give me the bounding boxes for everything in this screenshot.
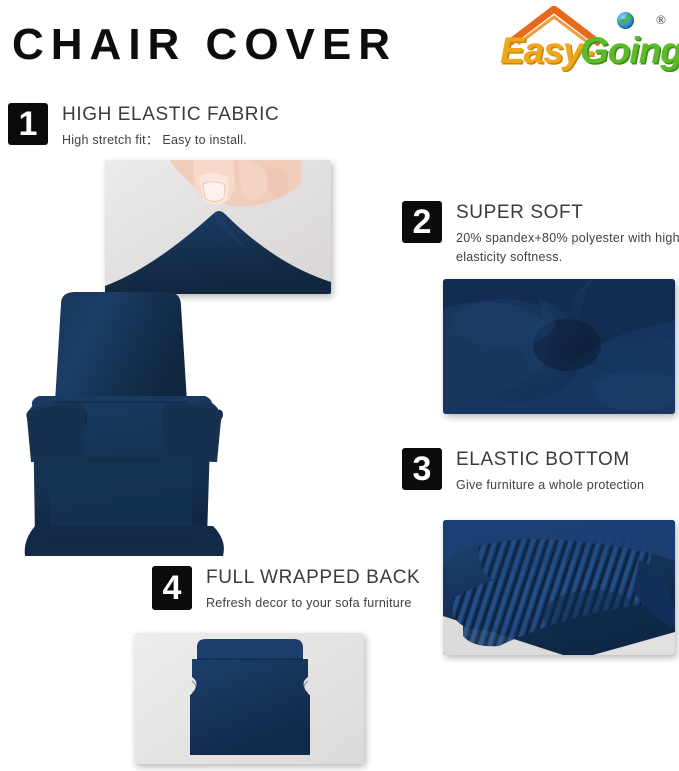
stretched-fabric-shape [105, 208, 331, 294]
elastic-hem-illustration [443, 520, 675, 655]
chair-back-illustration [134, 633, 364, 764]
feature-subtitle-4: Refresh decor to your sofa furniture [206, 594, 412, 613]
globe-icon [617, 12, 634, 29]
fabric-swirl-photo [443, 279, 675, 414]
feature-subtitle-1: High stretch fit： Easy to install. [62, 131, 247, 150]
brand-logo: Easy- Going ® [496, 4, 674, 84]
recliner-chair-photo [15, 290, 265, 575]
feature-number-badge-3: 3 [402, 448, 442, 490]
feature-number-badge-4: 4 [152, 566, 192, 610]
feature-subtitle-2: 20% spandex+80% polyester with high elas… [456, 229, 679, 267]
elastic-bottom-photo [443, 520, 675, 655]
wrapped-back-photo [134, 633, 364, 764]
feature-heading-1: HIGH ELASTIC FABRIC [62, 103, 279, 127]
recliner-chair-illustration [15, 290, 265, 575]
header: CHAIR COVER Easy- Going ® [0, 0, 679, 95]
page-title: CHAIR COVER [12, 20, 397, 70]
feature-heading-4: FULL WRAPPED BACK [206, 566, 420, 590]
registered-trademark-icon: ® [656, 12, 666, 28]
feature-number-badge-1: 1 [8, 103, 48, 145]
feature-subtitle-3: Give furniture a whole protection [456, 476, 644, 495]
fabric-drape-illustration [443, 279, 675, 414]
brand-word-going: Going [580, 32, 679, 69]
fabric-pinch-photo [105, 160, 331, 294]
feature-heading-3: ELASTIC BOTTOM [456, 448, 630, 472]
feature-number-badge-2: 2 [402, 201, 442, 243]
feature-heading-2: SUPER SOFT [456, 201, 583, 225]
